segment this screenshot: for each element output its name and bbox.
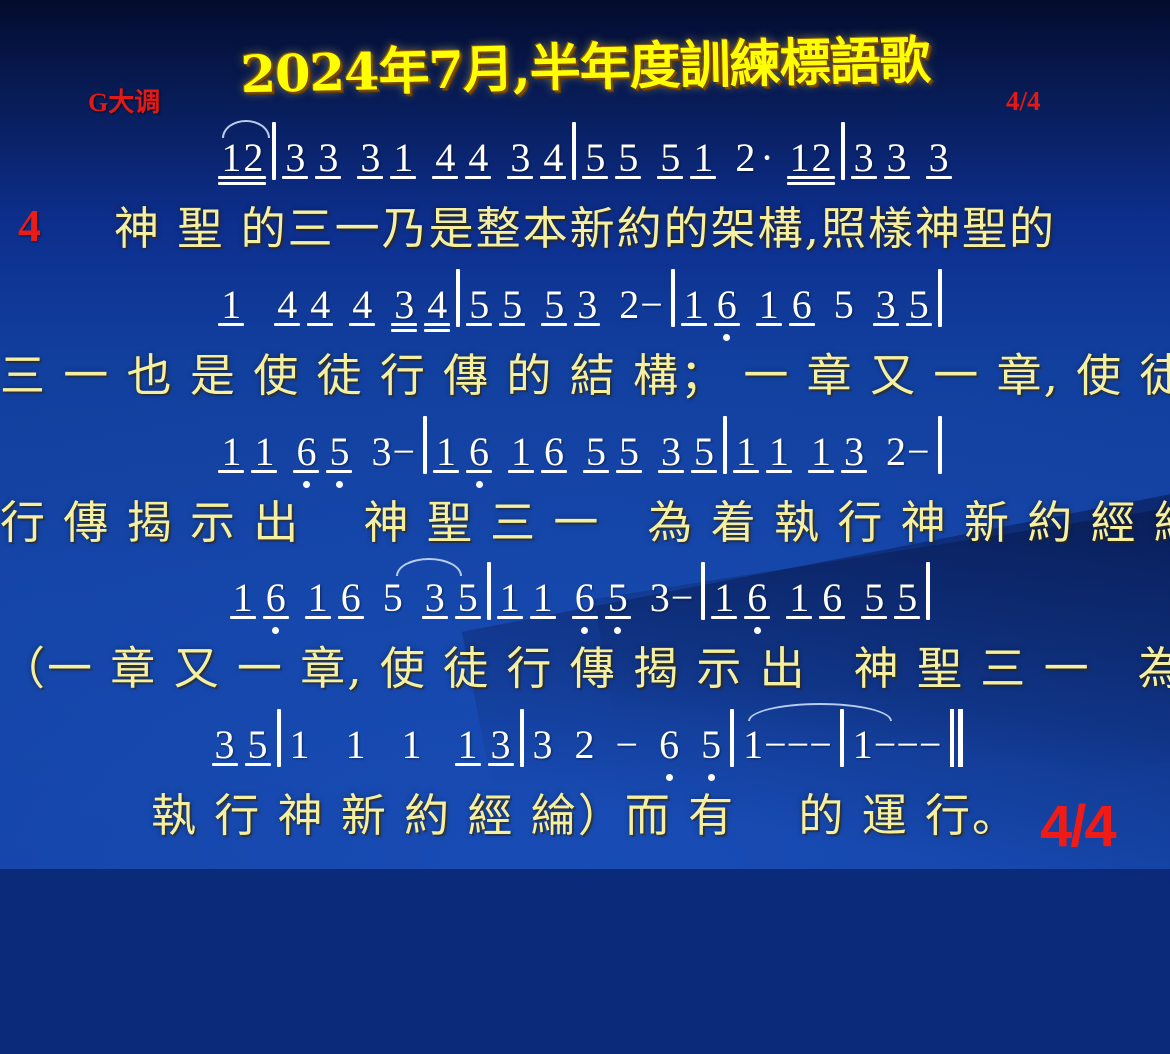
note: 1 bbox=[532, 576, 554, 620]
note: 1 bbox=[499, 576, 521, 620]
note: 1 bbox=[435, 430, 457, 474]
note: 5 bbox=[908, 283, 930, 327]
note: 3 bbox=[359, 136, 381, 180]
note: 5 bbox=[501, 283, 523, 327]
low-octave-dot-icon bbox=[476, 481, 483, 488]
note: 5 bbox=[382, 576, 404, 620]
note: 3 bbox=[576, 283, 598, 327]
final-double-barline bbox=[950, 709, 954, 767]
time-signature-top: 4/4 bbox=[1006, 86, 1041, 117]
note: 3 bbox=[875, 283, 897, 327]
note: 5 bbox=[700, 723, 722, 767]
note: 3 bbox=[214, 723, 236, 767]
note: 5 bbox=[833, 283, 855, 327]
barline bbox=[272, 122, 276, 180]
barline bbox=[730, 709, 734, 767]
note: 6 bbox=[295, 430, 317, 474]
note: 1 bbox=[220, 136, 242, 180]
note: 1 bbox=[289, 723, 311, 767]
barline bbox=[723, 416, 727, 474]
notation-row-5: 35 1 1 1 13 3 2 − 6 5 1−−− 1−−− bbox=[0, 705, 1170, 767]
music-line-3: 11 65 3− 16 16 55 35 11 13 2− 行 傳 揭 示 出 … bbox=[0, 412, 1170, 551]
note: 5 bbox=[863, 576, 885, 620]
lyrics-row-5: 執 行 神 新 約 經 綸）而 有 的 運 行。 bbox=[0, 779, 1170, 844]
barline bbox=[938, 416, 942, 474]
duration-dash: − bbox=[671, 576, 694, 620]
slur-arc-icon bbox=[396, 558, 462, 576]
note: 1 bbox=[768, 430, 790, 474]
note: 3 bbox=[424, 576, 446, 620]
note: 5 bbox=[617, 136, 639, 180]
note: 5 bbox=[607, 576, 629, 620]
music-line-5: 35 1 1 1 13 3 2 − 6 5 1−−− 1−−− bbox=[0, 705, 1170, 844]
low-octave-dot-icon bbox=[336, 481, 343, 488]
note: 6 bbox=[791, 283, 813, 327]
note: 1 bbox=[692, 136, 714, 180]
slur-group-1-2: 12 bbox=[220, 136, 264, 180]
note: 5 bbox=[896, 576, 918, 620]
note: 1 bbox=[742, 723, 764, 767]
note: 3 bbox=[490, 723, 512, 767]
barline bbox=[487, 562, 491, 620]
notation-row-2: 1 44 4 34 55 53 2− 16 16 5 35 bbox=[0, 265, 1170, 327]
note: 1 bbox=[758, 283, 780, 327]
note: 1 bbox=[392, 136, 414, 180]
note: 4 bbox=[542, 136, 564, 180]
music-line-4: 16 16 535 11 65 3− 16 16 55 （一 章 又 一 章, … bbox=[0, 558, 1170, 697]
note: 4 bbox=[426, 283, 448, 327]
note: 4 bbox=[351, 283, 373, 327]
note: 2 bbox=[242, 136, 264, 180]
note: 5 bbox=[543, 283, 565, 327]
note: 3 bbox=[928, 136, 950, 180]
note: 1 bbox=[253, 430, 275, 474]
low-octave-dot-icon bbox=[666, 774, 673, 781]
barline bbox=[423, 416, 427, 474]
note: 3 bbox=[317, 136, 339, 180]
note: 4 bbox=[309, 283, 331, 327]
note: 2 bbox=[811, 136, 833, 180]
note: 6 bbox=[821, 576, 843, 620]
barline bbox=[277, 709, 281, 767]
note: 1 bbox=[852, 723, 874, 767]
lyrics-row-3: 行 傳 揭 示 出 神 聖 三 一 為 着 執 行 神 新 約 經 綸 bbox=[0, 486, 1170, 551]
notation-row-3: 11 65 3− 16 16 55 35 11 13 2− bbox=[0, 412, 1170, 474]
note: 6 bbox=[468, 430, 490, 474]
note: 1 bbox=[683, 283, 705, 327]
note: 1 bbox=[401, 723, 423, 767]
note: 6 bbox=[658, 723, 680, 767]
barline bbox=[841, 122, 845, 180]
lyrics-row-4: （一 章 又 一 章, 使 徒 行 傳 揭 示 出 神 聖 三 一 為 着 bbox=[0, 632, 1170, 697]
note: 4 bbox=[276, 283, 298, 327]
note: 1 bbox=[220, 283, 242, 327]
note: 6 bbox=[265, 576, 287, 620]
note: 2 bbox=[885, 430, 907, 474]
note: 1 bbox=[457, 723, 479, 767]
note: 5 bbox=[328, 430, 350, 474]
duration-dash: − bbox=[809, 723, 832, 767]
low-octave-dot-icon bbox=[708, 774, 715, 781]
note: 4 bbox=[467, 136, 489, 180]
note: 5 bbox=[618, 430, 640, 474]
notation-row-4: 16 16 535 11 65 3− 16 16 55 bbox=[0, 558, 1170, 620]
lyrics-row-1: 神 聖 的三一乃是整本新約的架構,照樣神聖的 bbox=[0, 192, 1170, 257]
note: 1 bbox=[810, 430, 832, 474]
note: 1 bbox=[307, 576, 329, 620]
music-line-2: 1 44 4 34 55 53 2− 16 16 5 35 三 一 也 是 使 … bbox=[0, 265, 1170, 404]
note: 6 bbox=[716, 283, 738, 327]
note: 1 bbox=[788, 576, 810, 620]
note: 1 bbox=[713, 576, 735, 620]
slur-group-5-3: 535 bbox=[382, 576, 479, 620]
note: 5 bbox=[659, 136, 681, 180]
note: 5 bbox=[457, 576, 479, 620]
note: 3 bbox=[660, 430, 682, 474]
augmentation-dot: · bbox=[756, 136, 777, 180]
note: 6 bbox=[746, 576, 768, 620]
duration-dash: − bbox=[919, 723, 942, 767]
barline bbox=[701, 562, 705, 620]
note: 3 bbox=[843, 430, 865, 474]
note: 3 bbox=[649, 576, 671, 620]
low-octave-dot-icon bbox=[303, 481, 310, 488]
note: 1 bbox=[789, 136, 811, 180]
note: 5 bbox=[693, 430, 715, 474]
note: 1 bbox=[232, 576, 254, 620]
duration-dash: − bbox=[874, 723, 897, 767]
notation-row-1: 12 33 31 44 34 55 51 2· 12 33 3 bbox=[0, 118, 1170, 180]
note: 3 bbox=[886, 136, 908, 180]
tie-group-final: 1−−− bbox=[742, 723, 832, 767]
note: 2 bbox=[574, 723, 596, 767]
lyrics-row-2: 三 一 也 是 使 徒 行 傳 的 結 構； 一 章 又 一 章, 使 徒 bbox=[0, 339, 1170, 404]
music-line-1: 12 33 31 44 34 55 51 2· 12 33 3 神 聖 的三一乃… bbox=[0, 118, 1170, 257]
note: 5 bbox=[584, 136, 606, 180]
note: 1 bbox=[510, 430, 532, 474]
barline bbox=[520, 709, 524, 767]
note: 6 bbox=[574, 576, 596, 620]
note: 1 bbox=[220, 430, 242, 474]
barline bbox=[926, 562, 930, 620]
duration-dash: − bbox=[787, 723, 810, 767]
note: 6 bbox=[340, 576, 362, 620]
duration-dash: − bbox=[640, 283, 663, 327]
slide-canvas: 2024年7月,半年度訓練標語歌 G大调 4/4 4 4/4 12 33 31 … bbox=[0, 0, 1170, 869]
note: 1 bbox=[735, 430, 757, 474]
note: 3 bbox=[532, 723, 554, 767]
note: 6 bbox=[543, 430, 565, 474]
note: 4 bbox=[434, 136, 456, 180]
key-signature-label: G大调 bbox=[88, 82, 160, 119]
duration-dash: − bbox=[907, 430, 930, 474]
note: 5 bbox=[468, 283, 490, 327]
note: 3 bbox=[509, 136, 531, 180]
note: 5 bbox=[585, 430, 607, 474]
low-octave-dot-icon bbox=[754, 627, 761, 634]
note: 2 bbox=[618, 283, 640, 327]
note: 2 bbox=[734, 136, 756, 180]
note: 3 bbox=[853, 136, 875, 180]
tie-arc-icon bbox=[748, 703, 892, 721]
barline bbox=[938, 269, 942, 327]
note: 1 bbox=[345, 723, 367, 767]
note: 3 bbox=[393, 283, 415, 327]
note: 3 bbox=[284, 136, 306, 180]
page-title: 2024年7月,半年度訓練標語歌 bbox=[0, 14, 1170, 112]
barline bbox=[456, 269, 460, 327]
note: 5 bbox=[247, 723, 269, 767]
note: 3 bbox=[370, 430, 392, 474]
duration-dash: − bbox=[764, 723, 787, 767]
duration-dash: − bbox=[896, 723, 919, 767]
barline bbox=[572, 122, 576, 180]
duration-dash: − bbox=[616, 723, 639, 767]
barline bbox=[671, 269, 675, 327]
duration-dash: − bbox=[392, 430, 415, 474]
